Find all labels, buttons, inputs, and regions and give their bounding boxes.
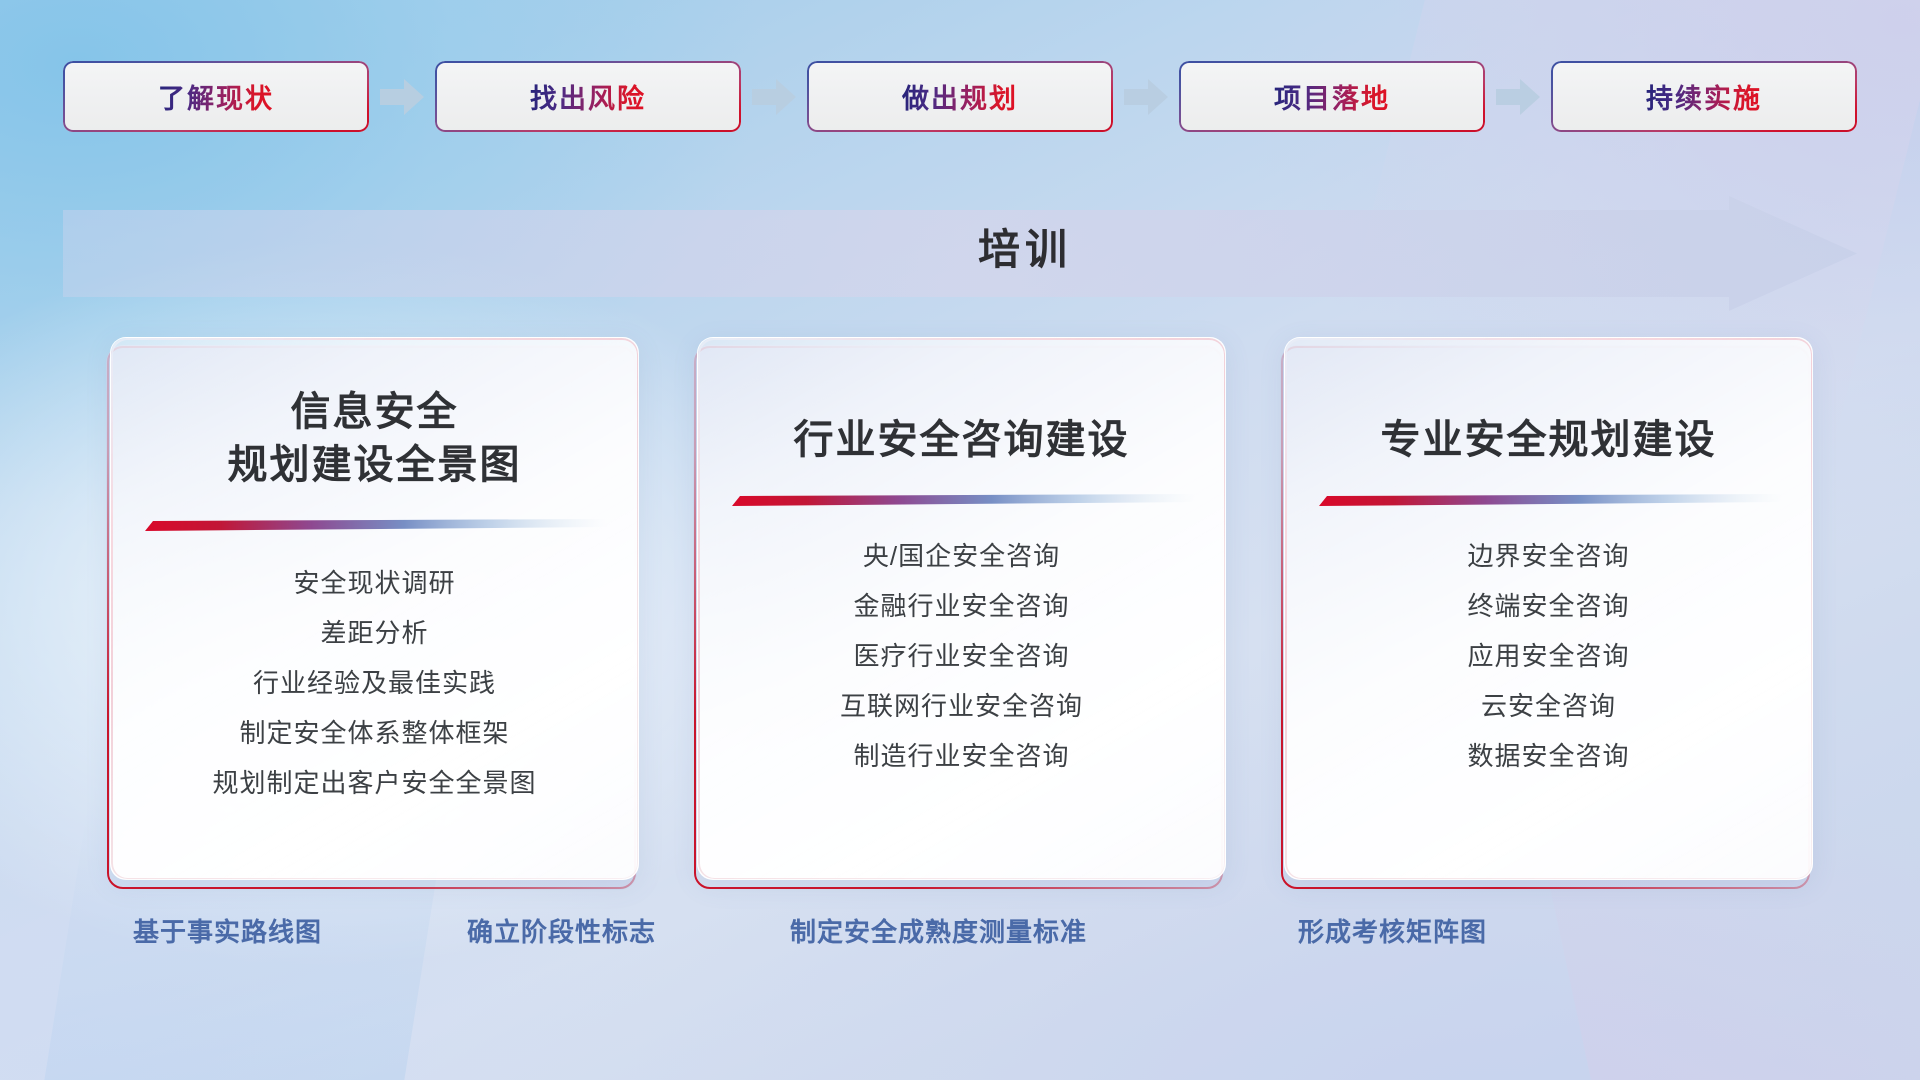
card-2-title-line-1: 行业安全咨询建设	[724, 414, 1199, 467]
list-item: 医疗行业安全咨询	[698, 643, 1225, 669]
card-3-title-line-1: 专业安全规划建设	[1311, 414, 1786, 467]
list-item: 行业经验及最佳实践	[111, 670, 638, 696]
list-item: 应用安全咨询	[1285, 643, 1812, 669]
card-2-title: 行业安全咨询建设	[698, 338, 1225, 467]
card-1-title-line-2: 规划建设全景图	[137, 439, 612, 492]
list-item: 云安全咨询	[1285, 693, 1812, 719]
list-item: 数据安全咨询	[1285, 743, 1812, 769]
process-step-5[interactable]: 持续实施	[1551, 61, 1857, 132]
process-step-2-label: 找出风险	[530, 77, 646, 116]
process-arrow-3	[1113, 61, 1179, 132]
card-3[interactable]: 专业安全规划建设	[1284, 337, 1813, 889]
slide-canvas: 了解现状 找出风险 做出规划 项目落地	[0, 0, 1920, 1080]
list-item: 央/国企安全咨询	[698, 543, 1225, 569]
footnote-4: 形成考核矩阵图	[1298, 912, 1487, 949]
card-2[interactable]: 行业安全咨询建设	[697, 337, 1226, 889]
process-arrow-4	[1485, 61, 1551, 132]
process-step-4-label: 项目落地	[1274, 77, 1390, 116]
footnote-3: 制定安全成熟度测量标准	[790, 912, 1087, 949]
process-steps-row: 了解现状 找出风险 做出规划 项目落地	[63, 61, 1857, 132]
list-item: 制造行业安全咨询	[698, 743, 1225, 769]
process-arrow-2	[741, 61, 807, 132]
card-3-list: 边界安全咨询 终端安全咨询 应用安全咨询 云安全咨询 数据安全咨询	[1285, 543, 1812, 769]
list-item: 边界安全咨询	[1285, 543, 1812, 569]
process-step-5-label: 持续实施	[1646, 77, 1762, 116]
list-item: 制定安全体系整体框架	[111, 720, 638, 746]
card-3-divider	[1316, 493, 1782, 509]
process-step-4[interactable]: 项目落地	[1179, 61, 1485, 132]
card-1-panel[interactable]: 信息安全 规划建设全景图	[110, 337, 639, 880]
banner-title: 培训	[63, 216, 1857, 283]
process-step-3[interactable]: 做出规划	[807, 61, 1113, 132]
card-1-title-line-1: 信息安全	[137, 386, 612, 439]
process-step-1-label: 了解现状	[158, 77, 274, 116]
training-banner: 培训	[63, 196, 1857, 311]
card-1-divider	[142, 518, 608, 534]
footnote-row: 基于事实路线图 确立阶段性标志 制定安全成熟度测量标准 形成考核矩阵图	[0, 912, 1920, 966]
card-2-divider	[729, 493, 1195, 509]
list-item: 规划制定出客户安全全景图	[111, 770, 638, 796]
process-step-2[interactable]: 找出风险	[435, 61, 741, 132]
footnote-1: 基于事实路线图	[133, 912, 322, 949]
card-1-title: 信息安全 规划建设全景图	[111, 338, 638, 492]
card-deck: 信息安全 规划建设全景图	[110, 337, 1813, 889]
list-item: 安全现状调研	[111, 570, 638, 596]
footnote-2: 确立阶段性标志	[467, 912, 656, 949]
card-3-panel[interactable]: 专业安全规划建设	[1284, 337, 1813, 880]
card-1[interactable]: 信息安全 规划建设全景图	[110, 337, 639, 889]
card-2-panel[interactable]: 行业安全咨询建设	[697, 337, 1226, 880]
list-item: 金融行业安全咨询	[698, 593, 1225, 619]
card-1-list: 安全现状调研 差距分析 行业经验及最佳实践 制定安全体系整体框架 规划制定出客户…	[111, 570, 638, 796]
list-item: 终端安全咨询	[1285, 593, 1812, 619]
list-item: 差距分析	[111, 620, 638, 646]
process-step-1[interactable]: 了解现状	[63, 61, 369, 132]
process-arrow-1	[369, 61, 435, 132]
list-item: 互联网行业安全咨询	[698, 693, 1225, 719]
process-step-3-label: 做出规划	[902, 77, 1018, 116]
card-3-title: 专业安全规划建设	[1285, 338, 1812, 467]
card-2-list: 央/国企安全咨询 金融行业安全咨询 医疗行业安全咨询 互联网行业安全咨询 制造行…	[698, 543, 1225, 769]
